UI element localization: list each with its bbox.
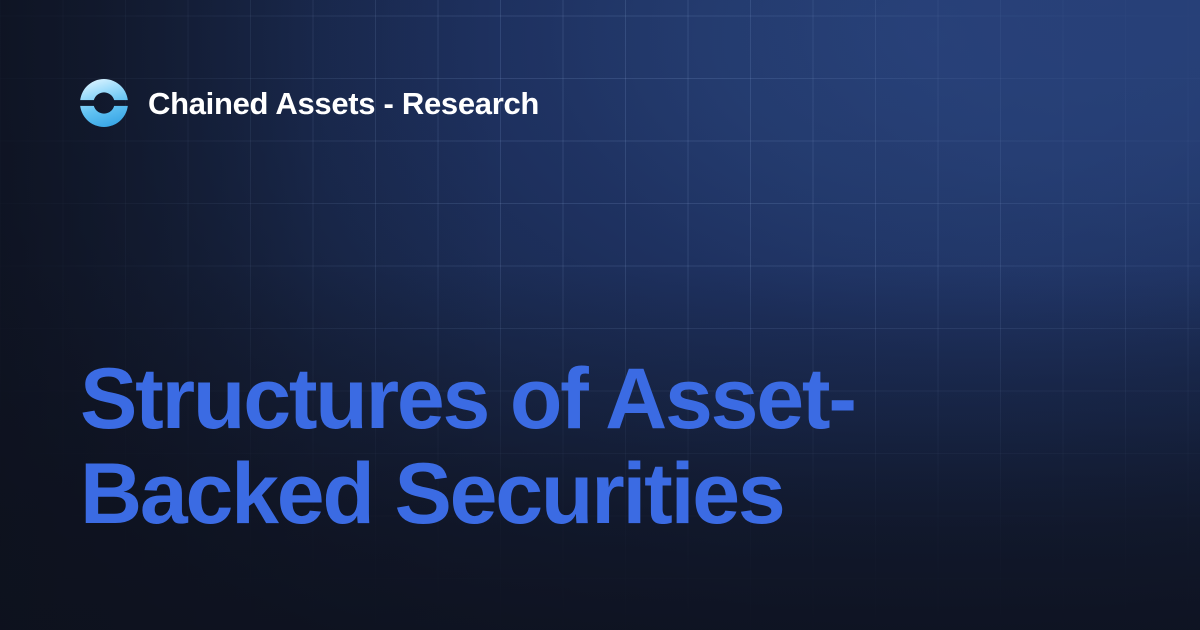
brand-row: Chained Assets - Research — [80, 79, 539, 127]
chained-ring-logo-icon — [80, 79, 128, 127]
card-content: Chained Assets - Research Structures of … — [0, 0, 1200, 630]
brand-name: Chained Assets - Research — [148, 88, 539, 119]
og-share-card: Chained Assets - Research Structures of … — [0, 0, 1200, 630]
page-title: Structures of Asset-Backed Securities — [80, 352, 1080, 543]
